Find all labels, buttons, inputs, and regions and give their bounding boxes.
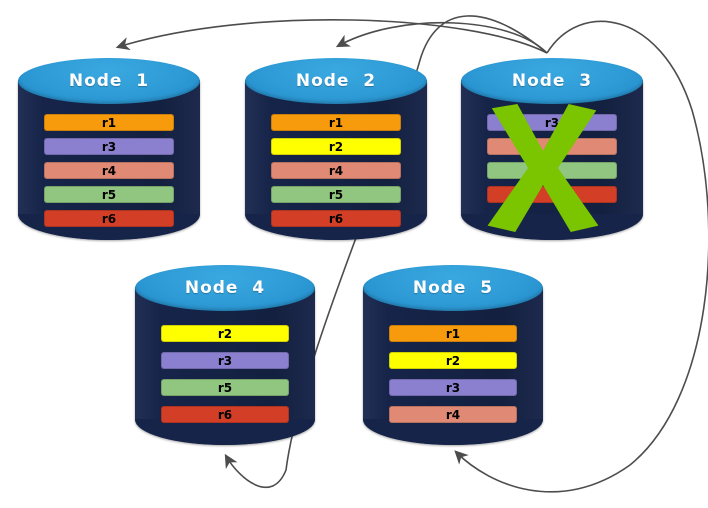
replica-row[interactable]: r4 [44,162,173,179]
replica-row[interactable]: r4 [271,162,400,179]
node-4[interactable]: Node 4 r2 r3 r5 r6 [135,265,315,445]
replica-row[interactable]: r5 [161,379,289,396]
replica-row[interactable]: r4 [389,406,517,423]
replica-row[interactable]: r3 [389,379,517,396]
node-title: Node 1 [18,58,200,104]
node-title: Node 4 [135,265,315,311]
node-5[interactable]: Node 5 r1 r2 r3 r4 [363,265,543,445]
replica-row[interactable]: r1 [389,325,517,342]
replica-row[interactable] [487,138,616,155]
replica-row[interactable] [487,186,616,203]
replica-row[interactable]: r5 [271,186,400,203]
replica-row[interactable]: r2 [271,138,400,155]
replica-row[interactable]: r6 [44,210,173,227]
replica-row[interactable]: r2 [389,352,517,369]
edge-node3-to-node2 [338,23,547,53]
replica-row[interactable]: r6 [271,210,400,227]
node-2[interactable]: Node 2 r1 r2 r4 r5 r6 [245,58,427,240]
edge-node3-to-node1 [118,20,547,53]
replica-list: r1 r2 r4 r5 r6 [245,114,427,227]
replica-row[interactable]: r5 [44,186,173,203]
replica-row[interactable]: r2 [161,325,289,342]
node-title: Node 5 [363,265,543,311]
node-title: Node 2 [245,58,427,104]
node-1[interactable]: Node 1 r1 r3 r4 r5 r6 [18,58,200,240]
replica-row[interactable]: r1 [44,114,173,131]
replica-row[interactable]: r3 [487,114,616,131]
replica-row[interactable]: r3 [44,138,173,155]
replica-row[interactable] [487,162,616,179]
node-title: Node 3 [461,58,643,104]
replica-row[interactable]: r3 [161,352,289,369]
replica-row[interactable]: r6 [161,406,289,423]
replica-list: r1 r2 r3 r4 [363,325,543,423]
replica-row[interactable]: r1 [271,114,400,131]
replica-list: r1 r3 r4 r5 r6 [18,114,200,227]
node-3[interactable]: Node 3 r3 [461,58,643,240]
replica-list: r3 [461,114,643,203]
diagram-canvas: Node 1 r1 r3 r4 r5 r6 Node 2 r1 r2 r4 r5… [0,0,708,508]
replica-list: r2 r3 r5 r6 [135,325,315,423]
